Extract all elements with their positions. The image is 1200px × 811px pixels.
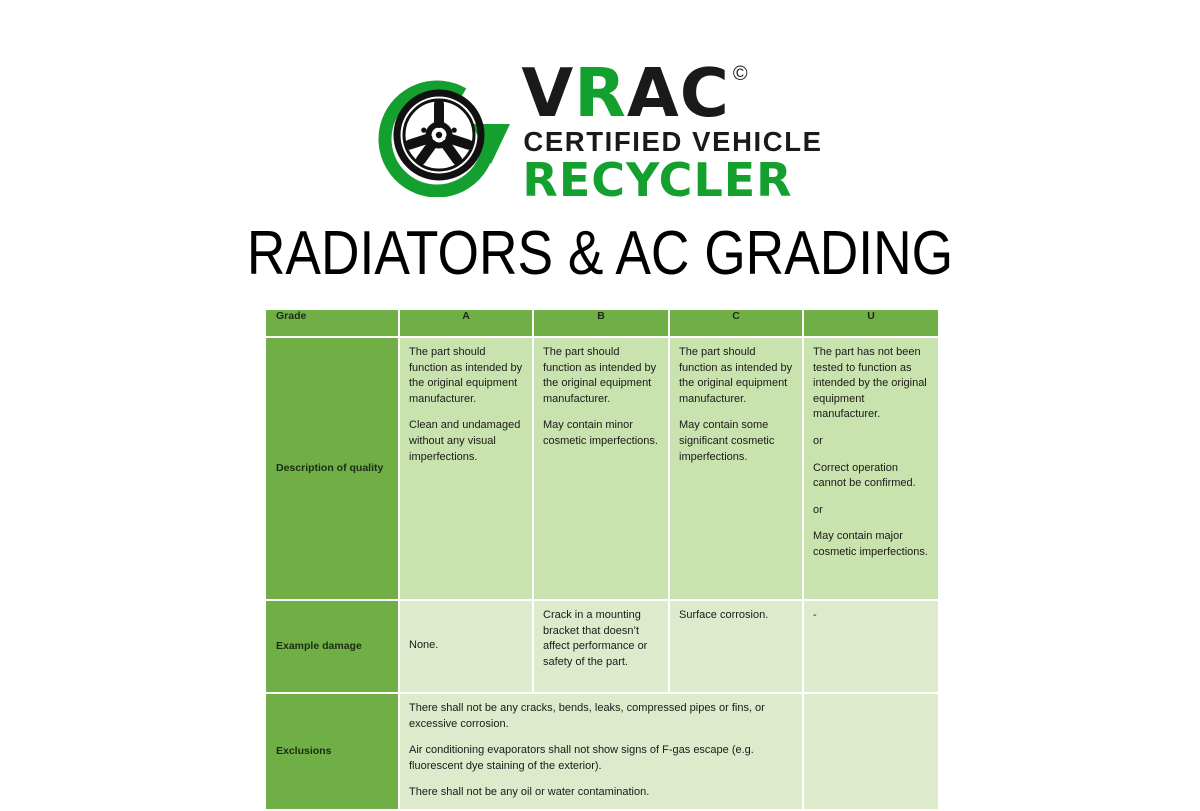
logo-letter-a: A bbox=[627, 63, 680, 125]
cell-exclusions-u bbox=[804, 694, 938, 809]
header-grade-a: A bbox=[400, 310, 532, 336]
cell-description-a: The part should function as intended by … bbox=[400, 338, 532, 599]
row-label-description: Description of quality bbox=[266, 338, 398, 599]
logo-letter-v: V bbox=[521, 63, 574, 125]
logo-wordmark: V R A C © CERTIFIED VEHICLE RECYCLER bbox=[521, 63, 822, 203]
row-label-exclusions: Exclusions bbox=[266, 694, 398, 809]
logo-letter-c: C bbox=[680, 63, 730, 125]
header-grade-label: Grade bbox=[266, 310, 398, 336]
brand-logo: V R A C © CERTIFIED VEHICLE RECYCLER bbox=[0, 58, 1200, 208]
cell-paragraph: Correct operation cannot be confirmed. bbox=[813, 461, 929, 492]
page-title: RADIATORS & AC GRADING bbox=[84, 218, 1116, 289]
cell-paragraph: or bbox=[813, 503, 929, 519]
cell-example-a: None. bbox=[400, 601, 532, 692]
cell-paragraph: May contain major cosmetic imperfections… bbox=[813, 529, 929, 560]
cell-paragraph: Crack in a mounting bracket that doesn’t… bbox=[543, 608, 659, 670]
logo-recycler: RECYCLER bbox=[522, 157, 792, 203]
cell-paragraph: The part should function as intended by … bbox=[679, 345, 793, 407]
cell-paragraph: Air conditioning evaporators shall not s… bbox=[409, 743, 793, 774]
header-grade-c: C bbox=[670, 310, 802, 336]
cell-description-u: The part has not been tested to function… bbox=[804, 338, 938, 599]
logo-letter-r: R bbox=[574, 63, 627, 125]
cell-paragraph: Clean and undamaged without any visual i… bbox=[409, 418, 523, 465]
cell-paragraph: None. bbox=[409, 638, 523, 654]
row-label-example-damage: Example damage bbox=[266, 601, 398, 692]
cell-example-c: Surface corrosion. bbox=[670, 601, 802, 692]
cell-example-b: Crack in a mounting bracket that doesn’t… bbox=[534, 601, 668, 692]
cell-description-b: The part should function as intended by … bbox=[534, 338, 668, 599]
grading-table: Grade A B C U Description of quality The… bbox=[264, 308, 940, 811]
wheel-recycle-logo-icon bbox=[377, 69, 515, 197]
logo-vrac: V R A C © bbox=[521, 63, 748, 125]
cell-description-c: The part should function as intended by … bbox=[670, 338, 802, 599]
cell-paragraph: The part has not been tested to function… bbox=[813, 345, 929, 423]
cell-exclusions-merged: There shall not be any cracks, bends, le… bbox=[400, 694, 802, 809]
header-grade-b: B bbox=[534, 310, 668, 336]
cell-paragraph: - bbox=[813, 608, 929, 624]
table-row-exclusions: Exclusions There shall not be any cracks… bbox=[266, 694, 938, 809]
cell-paragraph: or bbox=[813, 434, 929, 450]
cell-paragraph: The part should function as intended by … bbox=[409, 345, 523, 407]
table-row-description: Description of quality The part should f… bbox=[266, 338, 938, 599]
cell-paragraph: May contain minor cosmetic imperfections… bbox=[543, 418, 659, 449]
header-grade-u: U bbox=[804, 310, 938, 336]
copyright-icon: © bbox=[733, 65, 749, 83]
table-row-example-damage: Example damage None. Crack in a mounting… bbox=[266, 601, 938, 692]
cell-paragraph: There shall not be any cracks, bends, le… bbox=[409, 701, 793, 732]
cell-example-u: - bbox=[804, 601, 938, 692]
cell-paragraph: Surface corrosion. bbox=[679, 608, 793, 624]
cell-paragraph: There shall not be any oil or water cont… bbox=[409, 785, 793, 801]
logo-tagline: CERTIFIED VEHICLE bbox=[523, 128, 822, 156]
table-header-row: Grade A B C U bbox=[266, 310, 938, 336]
cell-paragraph: May contain some significant cosmetic im… bbox=[679, 418, 793, 465]
cell-paragraph: The part should function as intended by … bbox=[543, 345, 659, 407]
logo-lockup: V R A C © CERTIFIED VEHICLE RECYCLER bbox=[377, 63, 822, 203]
